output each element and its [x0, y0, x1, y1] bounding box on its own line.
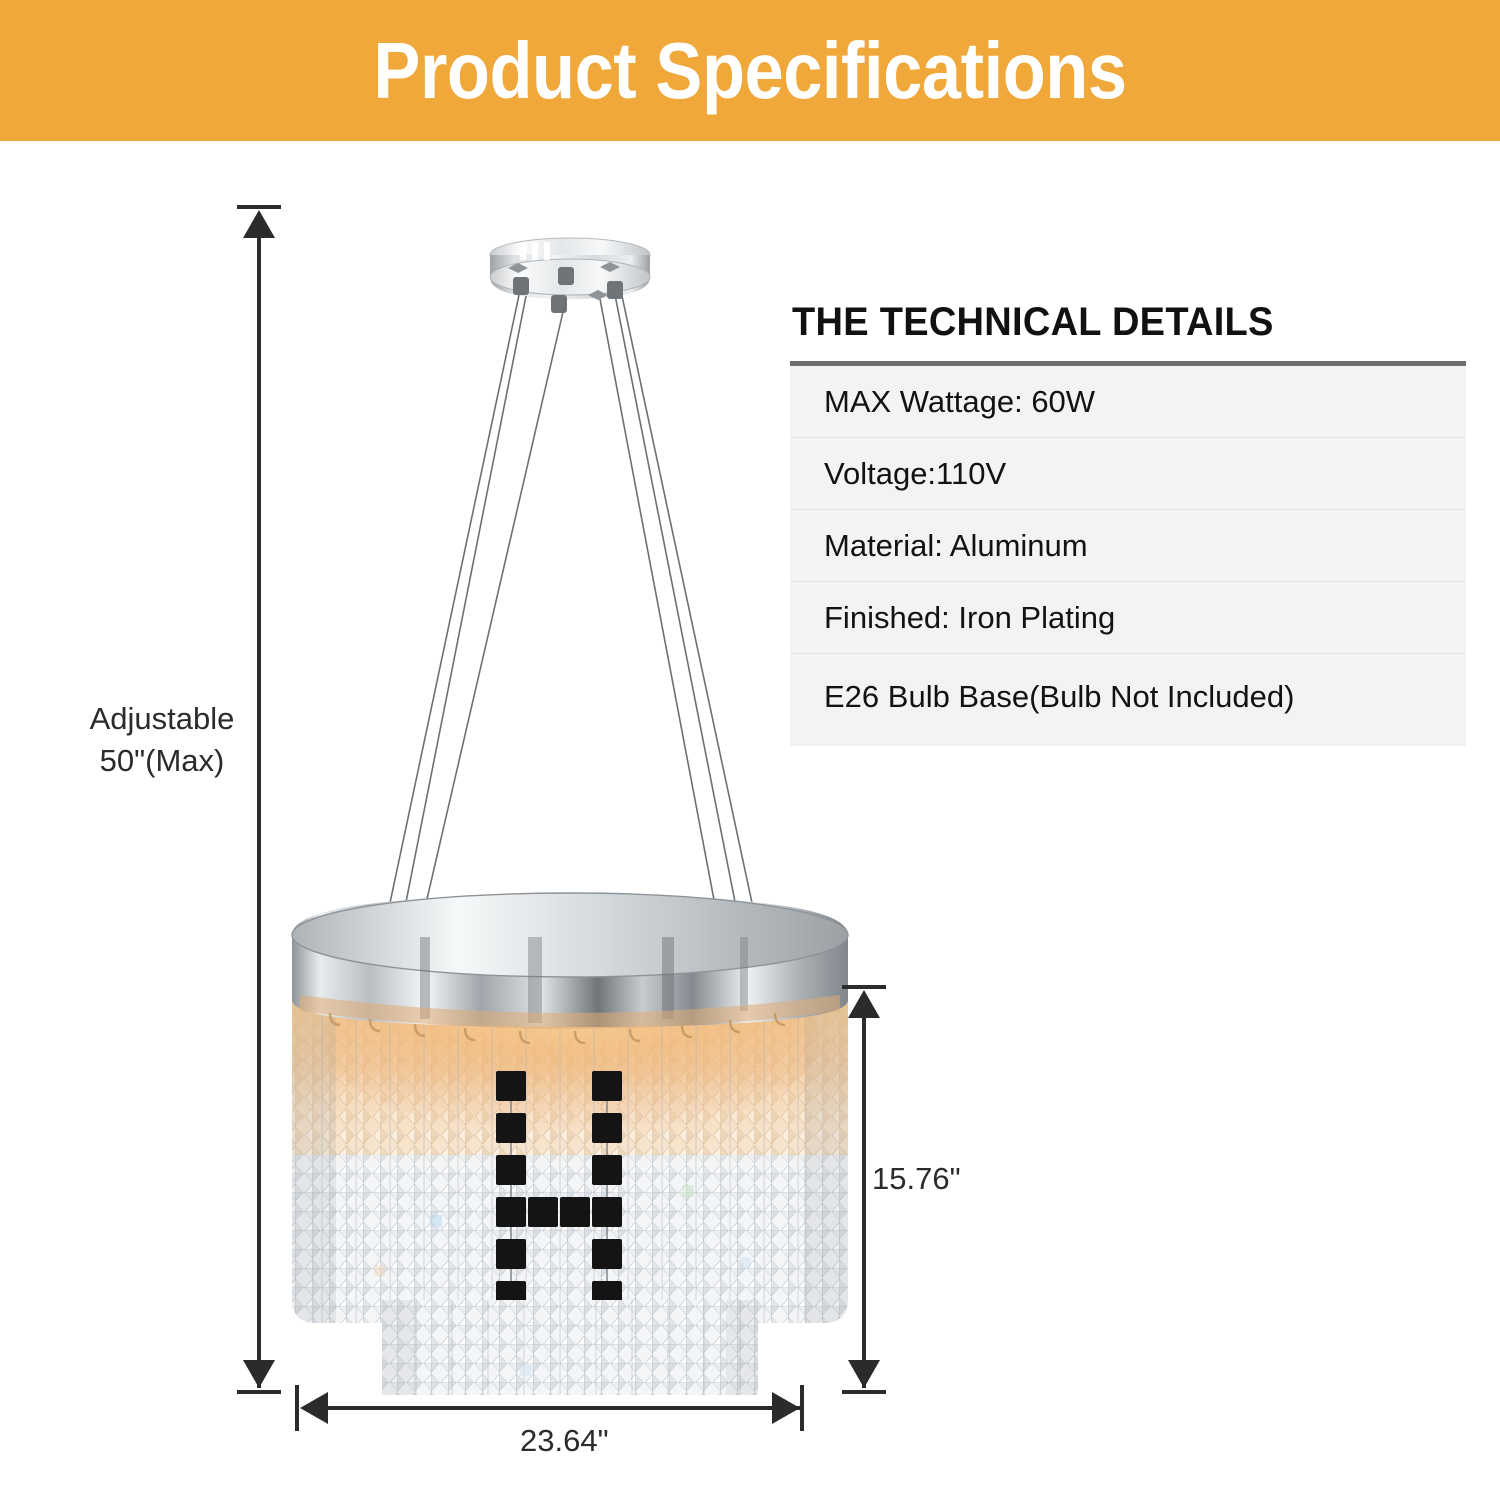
fixture-height-label: 15.76"	[872, 1158, 961, 1200]
product-spec-infographic: Product Specifications	[0, 0, 1500, 1500]
height-bottom-arrow	[243, 1360, 275, 1388]
fixture-height-bottom-arrow	[848, 1360, 880, 1388]
width-dimension-line	[306, 1406, 800, 1410]
width-right-tick	[800, 1385, 804, 1431]
page-title: Product Specifications	[90, 0, 1410, 141]
fixture-height-bottom-tick	[842, 1390, 886, 1394]
chrome-rim	[292, 893, 848, 1043]
height-dimension-line	[257, 216, 261, 1388]
width-right-arrow	[772, 1392, 800, 1424]
chandelier-body	[290, 893, 850, 1395]
fixture-width-label: 23.64"	[520, 1420, 609, 1462]
technical-details-table: MAX Wattage: 60W Voltage:110V Material: …	[790, 366, 1466, 746]
header-banner: Product Specifications	[0, 0, 1500, 141]
table-row: MAX Wattage: 60W	[790, 366, 1466, 438]
width-left-tick	[295, 1385, 299, 1431]
technical-details-heading: THE TECHNICAL DETAILS	[792, 300, 1432, 345]
fixture-height-top-tick	[842, 985, 886, 989]
overall-height-line2: 50"(Max)	[82, 740, 242, 782]
height-top-tick	[237, 205, 281, 209]
table-row: E26 Bulb Base(Bulb Not Included)	[790, 654, 1466, 740]
overall-height-line1: Adjustable	[82, 698, 242, 740]
table-row: Material: Aluminum	[790, 510, 1466, 582]
ceiling-canopy	[490, 238, 650, 313]
overall-height-label: Adjustable 50"(Max)	[82, 698, 242, 782]
technical-details-panel: THE TECHNICAL DETAILS MAX Wattage: 60W V…	[790, 300, 1466, 746]
height-bottom-tick	[237, 1390, 281, 1394]
table-row: Voltage:110V	[790, 438, 1466, 510]
fixture-height-dimension-line	[862, 996, 866, 1388]
table-row: Finished: Iron Plating	[790, 582, 1466, 654]
product-image-chandelier	[270, 195, 870, 1395]
